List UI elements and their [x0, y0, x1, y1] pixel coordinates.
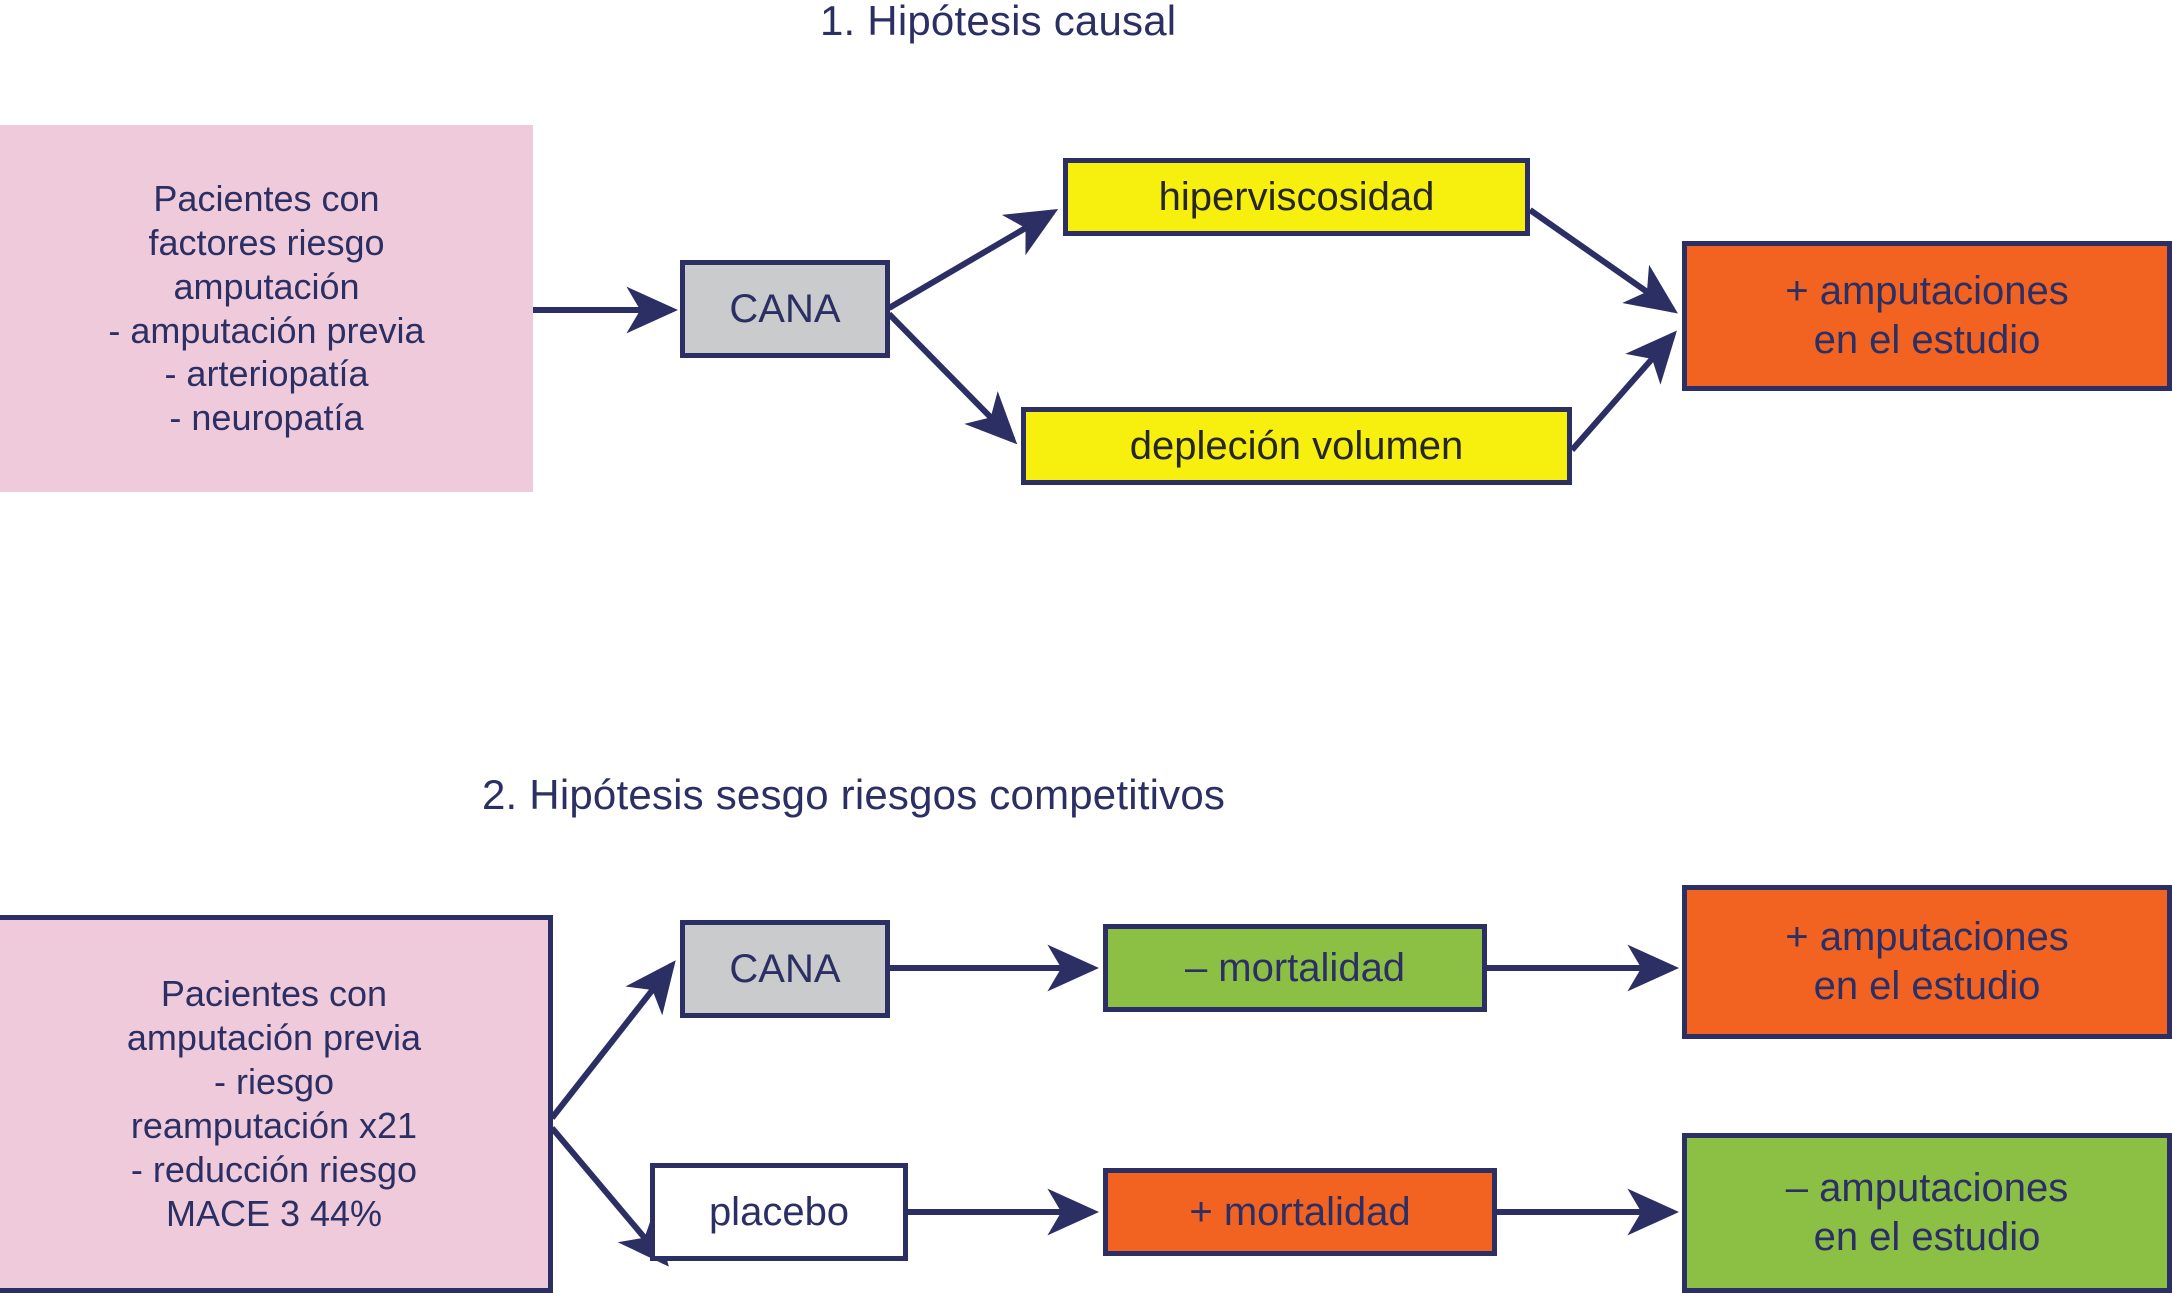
patients-risk-factors-box: Pacientes con factores riesgo amputación… — [0, 125, 533, 492]
amputaciones-decrease-label: – amputaciones en el estudio — [1687, 1164, 2167, 1262]
diagram-canvas: 1. Hipótesis causal — [0, 0, 2172, 1293]
cana-node-competing: CANA — [680, 920, 890, 1018]
placebo-label: placebo — [655, 1188, 903, 1237]
amputaciones-outcome-node-causal: + amputaciones en el estudio — [1682, 241, 2172, 391]
patients-prior-amputation-box: Pacientes con amputación previa - riesgo… — [0, 915, 553, 1293]
edge-patients2-to-cana — [552, 965, 672, 1118]
edge-patients2-to-placebo — [552, 1128, 665, 1262]
amputaciones-outcome-label-causal: + amputaciones en el estudio — [1687, 267, 2167, 365]
deplecion-volumen-label: depleción volumen — [1026, 422, 1567, 471]
amputaciones-increase-label: + amputaciones en el estudio — [1687, 913, 2167, 1011]
section-1-title: 1. Hipótesis causal — [820, 0, 1176, 44]
hiperviscosidad-label: hiperviscosidad — [1068, 173, 1525, 222]
amputaciones-decrease-node: – amputaciones en el estudio — [1682, 1133, 2172, 1293]
mortality-decrease-node: – mortalidad — [1103, 924, 1487, 1012]
amputaciones-increase-node: + amputaciones en el estudio — [1682, 885, 2172, 1039]
deplecion-volumen-node: depleción volumen — [1021, 407, 1572, 485]
patients-risk-factors-label: Pacientes con factores riesgo amputación… — [0, 177, 533, 440]
edge-deplecion-to-outcome — [1572, 335, 1673, 450]
hiperviscosidad-node: hiperviscosidad — [1063, 158, 1530, 236]
mortality-decrease-label: – mortalidad — [1108, 944, 1482, 993]
patients-prior-amputation-label: Pacientes con amputación previa - riesgo… — [0, 972, 548, 1235]
edge-cana-to-deplecion — [889, 314, 1013, 440]
placebo-node: placebo — [650, 1163, 908, 1261]
edge-hiperviscosidad-to-outcome — [1530, 210, 1673, 310]
section-2-title: 2. Hipótesis sesgo riesgos competitivos — [482, 772, 1225, 818]
mortality-increase-label: + mortalidad — [1108, 1188, 1492, 1237]
cana-label-competing: CANA — [685, 945, 885, 994]
edge-cana-to-hiperviscosidad — [889, 212, 1053, 308]
cana-label-causal: CANA — [685, 285, 885, 334]
mortality-increase-node: + mortalidad — [1103, 1168, 1497, 1256]
cana-node-causal: CANA — [680, 260, 890, 358]
